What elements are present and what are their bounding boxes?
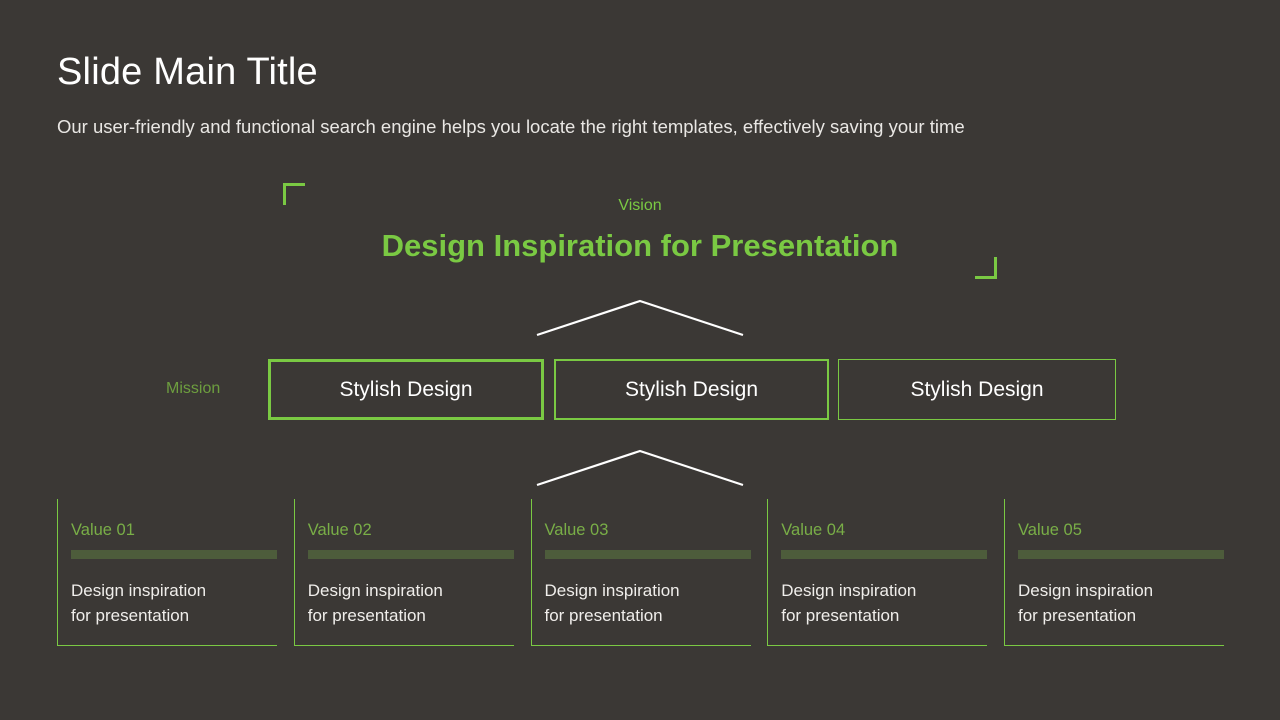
mission-label: Mission [166,379,220,399]
value-card-label: Value 03 [545,519,751,541]
mission-box-label: Stylish Design [625,376,758,404]
value-card-description: Design inspirationfor presentation [1018,578,1224,628]
value-card-label: Value 02 [308,519,514,541]
chevron-up-connector-icon-bottom [535,447,745,487]
value-card-description: Design inspirationfor presentation [308,578,514,628]
value-card-label: Value 01 [71,519,277,541]
value-card[interactable]: Value 04 Design inspirationfor presentat… [767,499,987,646]
mission-row: Stylish Design Stylish Design Stylish De… [268,359,1116,420]
vision-label: Vision [283,196,997,216]
vision-heading: Design Inspiration for Presentation [283,225,997,267]
value-card-divider-bar [308,550,514,559]
value-card-description: Design inspirationfor presentation [545,578,751,628]
page-title: Slide Main Title [57,48,318,96]
value-card[interactable]: Value 02 Design inspirationfor presentat… [294,499,514,646]
value-card-label: Value 05 [1018,519,1224,541]
mission-box-label: Stylish Design [910,376,1043,404]
mission-box-1[interactable]: Stylish Design [268,359,544,420]
slide-canvas: Slide Main Title Our user-friendly and f… [0,0,1280,720]
value-card-description: Design inspirationfor presentation [71,578,277,628]
value-card-description: Design inspirationfor presentation [781,578,987,628]
value-card-label: Value 04 [781,519,987,541]
chevron-up-connector-icon-top [535,297,745,337]
value-card[interactable]: Value 05 Design inspirationfor presentat… [1004,499,1224,646]
values-row: Value 01 Design inspirationfor presentat… [57,499,1224,646]
value-card-divider-bar [545,550,751,559]
mission-box-label: Stylish Design [339,376,472,404]
value-card-divider-bar [71,550,277,559]
vision-block: Vision Design Inspiration for Presentati… [283,183,997,279]
page-subtitle: Our user-friendly and functional search … [57,113,965,140]
value-card[interactable]: Value 01 Design inspirationfor presentat… [57,499,277,646]
mission-box-3[interactable]: Stylish Design [838,359,1116,420]
value-card-divider-bar [781,550,987,559]
value-card-divider-bar [1018,550,1224,559]
value-card[interactable]: Value 03 Design inspirationfor presentat… [531,499,751,646]
mission-box-2[interactable]: Stylish Design [554,359,829,420]
